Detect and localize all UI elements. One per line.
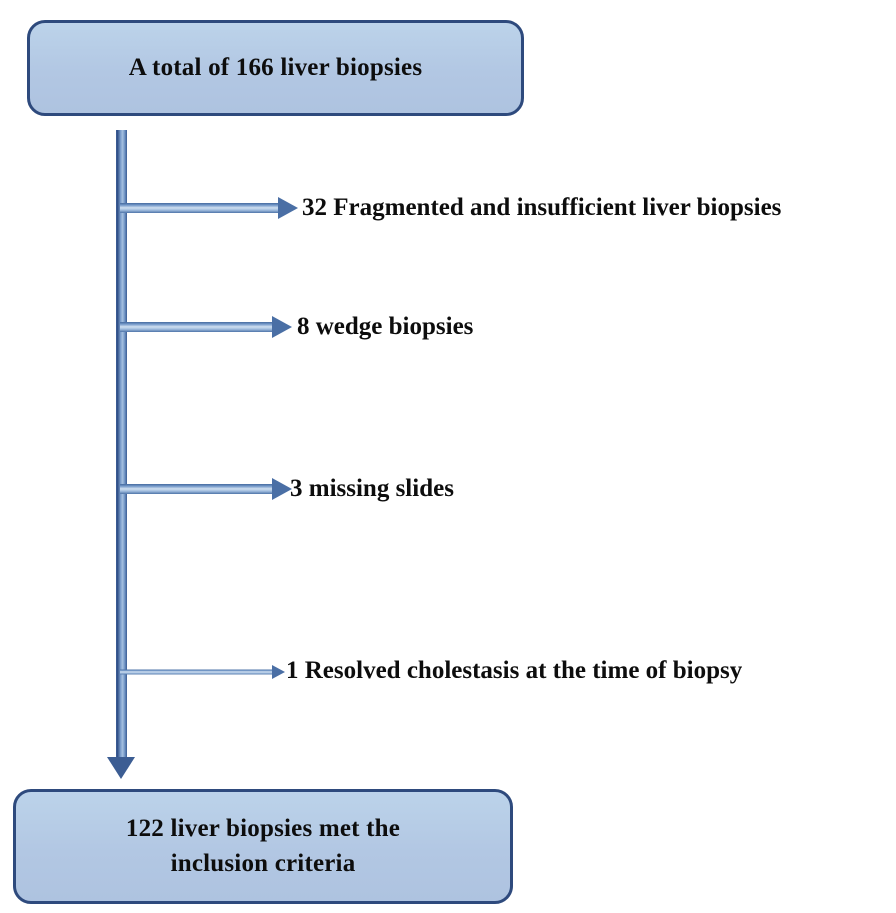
flow-node-start-label: A total of 166 liver biopsies — [129, 54, 423, 82]
exclusion-arrow-2 — [120, 310, 292, 344]
flow-node-end-label-line2: inclusion criteria — [126, 847, 400, 882]
arrow-head-icon — [272, 316, 292, 338]
exclusion-arrow-4 — [120, 655, 286, 689]
exclusion-label-1: 32 Fragmented and insufficient liver bio… — [302, 195, 781, 220]
exclusion-arrow-1 — [120, 191, 298, 225]
flow-node-end-label-line1: 122 liver biopsies met the — [126, 812, 400, 847]
arrow-shaft-icon — [120, 322, 274, 332]
exclusion-label-3: 3 missing slides — [290, 476, 454, 501]
flow-node-end: 122 liver biopsies met the inclusion cri… — [13, 789, 513, 904]
arrow-head-icon — [272, 478, 292, 500]
main-connector-arrowhead-icon — [107, 757, 135, 779]
exclusion-arrow-3 — [120, 472, 292, 506]
exclusion-label-4: 1 Resolved cholestasis at the time of bi… — [286, 658, 742, 683]
arrow-head-icon — [278, 197, 298, 219]
arrow-shaft-icon — [120, 670, 274, 675]
flowchart-canvas: A total of 166 liver biopsies 32 Fragmen… — [0, 0, 896, 913]
arrow-shaft-icon — [120, 484, 274, 494]
flow-node-end-text: 122 liver biopsies met the inclusion cri… — [126, 812, 400, 881]
arrow-shaft-icon — [120, 203, 280, 213]
flow-node-start: A total of 166 liver biopsies — [27, 20, 524, 116]
exclusion-label-2: 8 wedge biopsies — [297, 314, 473, 339]
arrow-head-icon — [272, 665, 285, 679]
